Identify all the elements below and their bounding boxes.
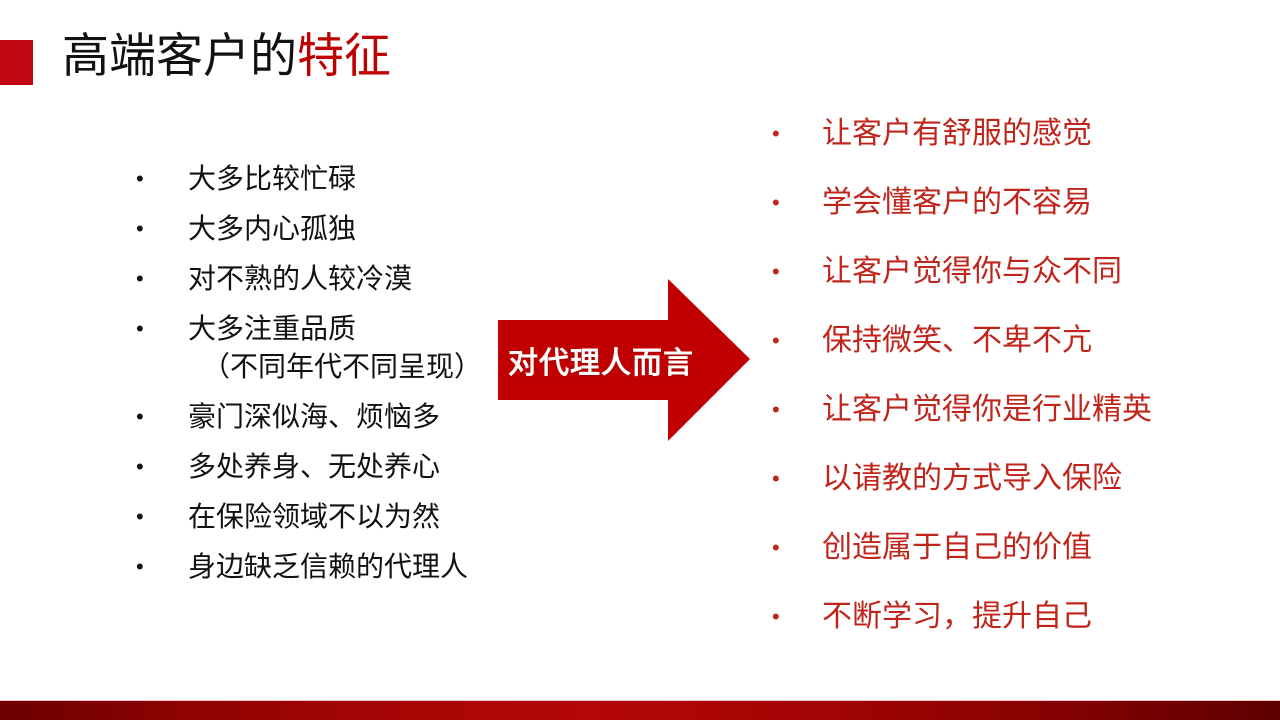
bullet-dot-icon: • <box>772 183 822 223</box>
list-item: • 身边缺乏信赖的代理人 <box>136 548 482 598</box>
page-title: 高端客户的特征 <box>62 27 391 85</box>
list-item: • 大多内心孤独 <box>136 210 482 260</box>
bullet-dot-icon: • <box>772 321 822 361</box>
list-item: • 让客户觉得你是行业精英 <box>772 390 1152 459</box>
title-square-marker-icon <box>0 40 33 85</box>
list-item-label: 豪门深似海、烦恼多 <box>188 398 440 436</box>
list-item-label: 以请教的方式导入保险 <box>822 459 1122 499</box>
slide-canvas: 高端客户的特征 • 大多比较忙碌 • 大多内心孤独 • 对不熟的人较冷漠 • 大… <box>0 0 1280 720</box>
bullet-dot-icon: • <box>772 459 822 499</box>
list-item: • 让客户有舒服的感觉 <box>772 114 1152 183</box>
bullet-dot-icon: • <box>136 210 188 248</box>
list-item: • 大多比较忙碌 <box>136 160 482 210</box>
bullet-dot-icon: • <box>772 390 822 430</box>
bullet-dot-icon: • <box>136 160 188 198</box>
bullet-dot-icon: • <box>136 398 188 436</box>
list-item-label: 对不熟的人较冷漠 <box>188 260 412 298</box>
list-item: • 以请教的方式导入保险 <box>772 459 1152 528</box>
list-item: • 学会懂客户的不容易 <box>772 183 1152 252</box>
list-item-label: 身边缺乏信赖的代理人 <box>188 548 468 586</box>
list-item: • 不断学习，提升自己 <box>772 597 1152 666</box>
list-item-label: 保持微笑、不卑不亢 <box>822 321 1092 361</box>
bullet-dot-icon: • <box>136 548 188 586</box>
bullet-dot-icon: • <box>772 528 822 568</box>
right-agent-actions-list: • 让客户有舒服的感觉 • 学会懂客户的不容易 • 让客户觉得你与众不同 • 保… <box>772 114 1152 666</box>
list-item: • 保持微笑、不卑不亢 <box>772 321 1152 390</box>
page-title-red-part: 特征 <box>297 29 391 82</box>
page-title-black-part: 高端客户的 <box>62 29 297 82</box>
bullet-dot-icon: • <box>772 252 822 292</box>
list-item-label: 不断学习，提升自己 <box>822 597 1092 637</box>
list-item-label: 在保险领域不以为然 <box>188 498 440 536</box>
list-item: • 大多注重品质 （不同年代不同呈现） <box>136 310 482 398</box>
list-item-label: 让客户觉得你是行业精英 <box>822 390 1152 430</box>
list-item-label: 大多注重品质 <box>188 313 356 344</box>
list-item-label: 大多内心孤独 <box>188 210 356 248</box>
arrow-label: 对代理人而言 <box>498 323 704 397</box>
footer-bar <box>0 701 1280 720</box>
list-item-sublabel: （不同年代不同呈现） <box>188 348 482 386</box>
right-arrow-shape: 对代理人而言 <box>498 279 750 441</box>
list-item: • 多处养身、无处养心 <box>136 448 482 498</box>
list-item: • 对不熟的人较冷漠 <box>136 260 482 310</box>
list-item-label: 让客户有舒服的感觉 <box>822 114 1092 154</box>
left-characteristics-list: • 大多比较忙碌 • 大多内心孤独 • 对不熟的人较冷漠 • 大多注重品质 （不… <box>136 160 482 598</box>
list-item-label: 大多比较忙碌 <box>188 160 356 198</box>
bullet-dot-icon: • <box>136 310 188 348</box>
bullet-dot-icon: • <box>136 260 188 298</box>
list-item-label-wrapper: 大多注重品质 （不同年代不同呈现） <box>188 310 482 386</box>
list-item-label: 学会懂客户的不容易 <box>822 183 1092 223</box>
list-item-label: 创造属于自己的价值 <box>822 528 1092 568</box>
list-item: • 创造属于自己的价值 <box>772 528 1152 597</box>
bullet-dot-icon: • <box>136 498 188 536</box>
list-item: • 豪门深似海、烦恼多 <box>136 398 482 448</box>
bullet-dot-icon: • <box>772 114 822 154</box>
list-item: • 让客户觉得你与众不同 <box>772 252 1152 321</box>
list-item: • 在保险领域不以为然 <box>136 498 482 548</box>
bullet-dot-icon: • <box>136 448 188 486</box>
list-item-label: 多处养身、无处养心 <box>188 448 440 486</box>
list-item-label: 让客户觉得你与众不同 <box>822 252 1122 292</box>
bullet-dot-icon: • <box>772 597 822 637</box>
